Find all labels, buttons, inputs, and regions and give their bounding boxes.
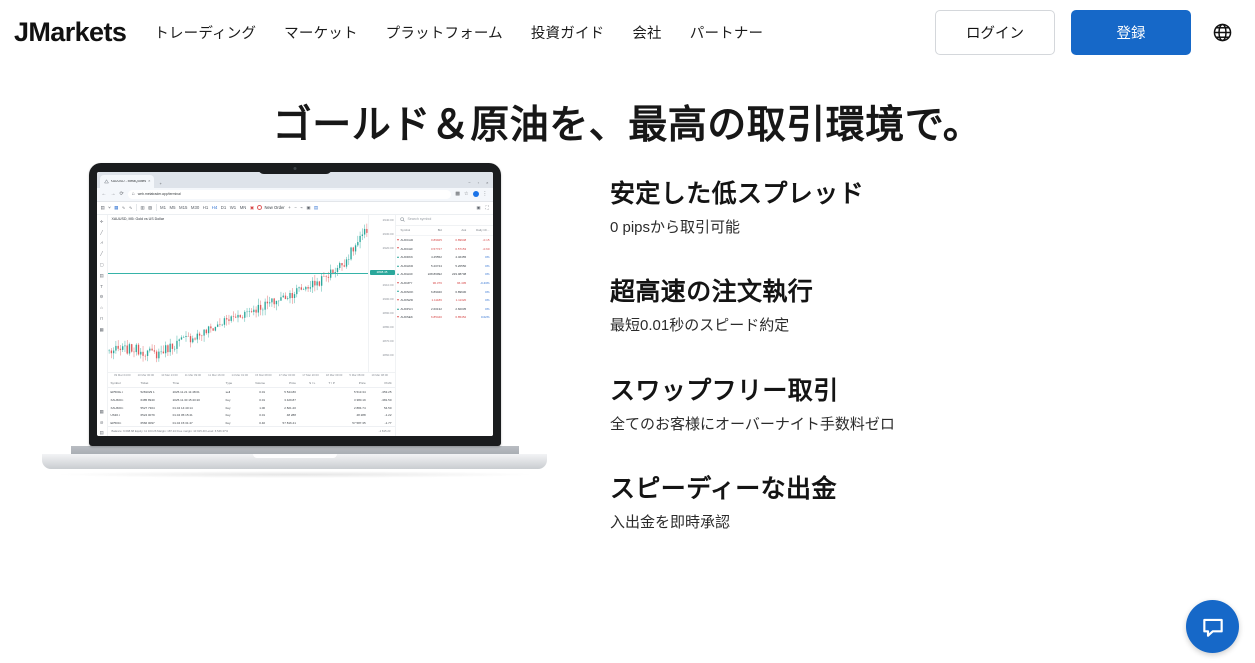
watch-ask: 5.20550 bbox=[445, 262, 469, 271]
account-status-left: Balance: 9 098.68 Equity: 11 163.26 Marg… bbox=[112, 429, 229, 433]
bookmark-icon[interactable]: ☆ bbox=[464, 192, 468, 197]
list-item[interactable]: AUDNOK6.890406.896300% bbox=[396, 287, 493, 296]
feature-title: 超高速の注文執行 bbox=[610, 277, 1255, 307]
new-order-icon bbox=[257, 205, 262, 210]
trades-table: Symbol Ticket Time Type Volume Price S /… bbox=[108, 379, 395, 426]
lock-icon[interactable]: ⌂ bbox=[100, 306, 103, 310]
watch-change: 0% bbox=[469, 253, 492, 262]
table-cell: -1.22 bbox=[369, 412, 395, 420]
timeframe-h4[interactable]: H4 bbox=[212, 206, 218, 210]
watch-change: -0.15 bbox=[469, 235, 492, 244]
watch-symbol: AUDNZD bbox=[396, 296, 421, 305]
table-cell: 3 380.19 bbox=[338, 396, 369, 404]
list-item[interactable]: AUDDKK4.455524.464550% bbox=[396, 253, 493, 262]
watch-change: 0% bbox=[469, 305, 492, 314]
feature-desc: 入出金を即時承認 bbox=[610, 513, 1255, 533]
window-minimize-icon[interactable]: − bbox=[468, 181, 470, 185]
price-level-line bbox=[108, 273, 368, 274]
browser-tab-title: XAUUSD - MetaQuotes bbox=[111, 180, 147, 183]
watch-bid: 0.57727 bbox=[421, 244, 445, 253]
templates-icon[interactable]: ▤ bbox=[314, 206, 318, 210]
watch-change: 0% bbox=[469, 287, 492, 296]
feature-spread: 安定した低スプレッド 0 pipsから取引可能 bbox=[610, 179, 1255, 238]
watch-bid: 4.45552 bbox=[421, 253, 445, 262]
extensions-icon[interactable]: ▩ bbox=[455, 192, 460, 197]
price-tick: 2890.00 bbox=[383, 312, 394, 315]
current-price-badge: 2898.45 bbox=[370, 270, 395, 275]
browser-tab[interactable]: XAUUSD - MetaQuotes × bbox=[100, 175, 155, 188]
list-item[interactable]: AUDSEK6.854406.854520.02% bbox=[396, 313, 493, 322]
globe-icon bbox=[1212, 22, 1233, 43]
toolbar-menu-icon[interactable]: ▤ bbox=[101, 206, 105, 210]
table-cell bbox=[299, 388, 318, 396]
site-header: JMarkets トレーディング マーケット プラットフォーム 投資ガイド 会社… bbox=[0, 0, 1255, 64]
time-tick: 17 Mar 20:00 bbox=[302, 374, 318, 377]
drawing-tools-rail: ✛ ╱ ⩘ ╱ ▢ ▤ T ⚙ ⌂ ⊓ ▩ ▦ bbox=[97, 215, 108, 436]
timeframe-m1[interactable]: M1 bbox=[160, 206, 166, 210]
header-actions: ログイン 登録 bbox=[935, 10, 1237, 55]
time-tick: 15 Mar 08:00 bbox=[255, 374, 271, 377]
layout-icon[interactable]: ▣ bbox=[476, 206, 480, 210]
trades-header-row: Symbol Ticket Time Type Volume Price S /… bbox=[108, 379, 395, 388]
symbol-search-field[interactable]: Search symbol bbox=[396, 215, 493, 226]
table-cell: 5 544.80 bbox=[268, 388, 299, 396]
list-item[interactable]: AUDPLN2.601322.600350% bbox=[396, 305, 493, 314]
toolbar-area-icon[interactable]: ∿ bbox=[129, 206, 133, 210]
toolbar-right-group: ▣ ⛶ bbox=[476, 206, 488, 210]
ray-icon[interactable]: ╱ bbox=[100, 252, 103, 256]
price-axis: 2940.00 2930.00 2898.45 2920.00 2910.00 … bbox=[368, 215, 395, 372]
tab-close-icon[interactable]: × bbox=[148, 179, 150, 183]
col-ticket[interactable]: Ticket bbox=[138, 379, 170, 388]
table-cell: 2025.11.21 11:48:01 bbox=[170, 388, 223, 396]
zoom-in-icon[interactable]: + bbox=[288, 206, 291, 210]
lock-icon: ⌂ bbox=[132, 192, 135, 197]
watch-symbol: AUDHUF bbox=[396, 270, 421, 279]
nav-item-guide[interactable]: 投資ガイド bbox=[531, 22, 605, 43]
watch-header-row: Symbol Bid Ask Daily Ch... bbox=[396, 226, 493, 236]
browser-urlbar: ← → ⟳ ⌂ web.metatrader.app/terminal ▩ ☆ … bbox=[97, 188, 493, 202]
profile-avatar[interactable] bbox=[473, 191, 479, 197]
col-type[interactable]: Type bbox=[223, 379, 243, 388]
col-current-price[interactable]: Price bbox=[338, 379, 369, 388]
watch-ask: 0.57153 bbox=[445, 244, 469, 253]
table-cell bbox=[299, 412, 318, 420]
feature-desc: 最短0.01秒のスピード約定 bbox=[610, 316, 1255, 336]
time-tick: 18 Mar 09:00 bbox=[326, 374, 342, 377]
table-cell bbox=[318, 412, 338, 420]
address-bar-url: web.metatrader.app/terminal bbox=[138, 193, 181, 196]
chart-and-trades: XAUUSD, M5: Gold vs US Dollar 2940.00 29… bbox=[108, 215, 395, 436]
search-icon bbox=[400, 217, 405, 222]
watch-symbol: AUDHKD bbox=[396, 262, 421, 271]
live-chat-button[interactable] bbox=[1186, 600, 1239, 653]
new-tab-icon[interactable]: + bbox=[159, 182, 161, 186]
laptop-mockup: XAUUSD - MetaQuotes × + − ▫ × ← → bbox=[42, 163, 547, 478]
timeframe-w1[interactable]: W1 bbox=[230, 206, 236, 210]
settings-icon[interactable]: ⚙ bbox=[100, 295, 104, 299]
watch-bid: 96.376 bbox=[421, 279, 445, 288]
table-cell: 5281029 1 bbox=[138, 388, 170, 396]
new-order-label: New Order bbox=[264, 205, 284, 210]
open-trades-table: Symbol Ticket Time Type Volume Price S /… bbox=[108, 379, 395, 426]
watch-bid: 6.85440 bbox=[421, 313, 445, 322]
price-tick: 2900.00 bbox=[383, 298, 394, 301]
col-volume[interactable]: Volume bbox=[243, 379, 269, 388]
time-tick: 10 Mar 00:00 bbox=[138, 374, 154, 377]
new-order-button[interactable]: New Order bbox=[257, 205, 284, 210]
list-item[interactable]: AUDNZD1.111861.113200% bbox=[396, 296, 493, 305]
table-cell bbox=[299, 396, 318, 404]
watch-change: -0.60 bbox=[469, 244, 492, 253]
page-title: ゴールド＆原油を、最高の取引環境で。 bbox=[0, 102, 1255, 151]
watch-bid: 1.11186 bbox=[421, 296, 445, 305]
watch-bid: 0.89925 bbox=[421, 235, 445, 244]
watch-symbol: AUDSEK bbox=[396, 313, 421, 322]
feature-title: 安定した低スプレッド bbox=[610, 179, 1255, 209]
table-cell: 2025.11.30 15:40:20 bbox=[170, 396, 223, 404]
table-row[interactable]: XAU600.t6485 89402025.11.30 15:40:20buy0… bbox=[108, 396, 395, 404]
nav-item-platform[interactable]: プラットフォーム bbox=[386, 22, 503, 43]
address-bar[interactable]: ⌂ web.metatrader.app/terminal bbox=[128, 190, 452, 199]
table-cell: 0.01 bbox=[243, 412, 269, 420]
watch-change: 0% bbox=[469, 262, 492, 271]
table-cell bbox=[318, 396, 338, 404]
laptop-hinge bbox=[71, 446, 519, 454]
watch-symbol: AUDCAD bbox=[396, 235, 421, 244]
watch-ask: 1.11320 bbox=[445, 296, 469, 305]
table-cell: 6524 0079 bbox=[138, 412, 170, 420]
time-axis: 09 Mar 04:00 10 Mar 00:00 10 Mar 13:00 1… bbox=[108, 372, 395, 379]
watch-ask: 6.85452 bbox=[445, 313, 469, 322]
price-tick: 2940.00 bbox=[383, 219, 394, 222]
toolbar-candles-icon[interactable]: ▨ bbox=[148, 206, 152, 210]
list-item[interactable]: AUDHUF228.86992229.087080% bbox=[396, 270, 493, 279]
table-cell: buy bbox=[223, 412, 243, 420]
feature-list: 安定した低スプレッド 0 pipsから取引可能 超高速の注文執行 最短0.01秒… bbox=[600, 161, 1255, 533]
watch-symbol: AUDPLN bbox=[396, 305, 421, 314]
table-row[interactable]: XAU600.t5527 730401.04 14:40:14buy1.002 … bbox=[108, 404, 395, 412]
fibonacci-icon[interactable]: ⩘ bbox=[100, 241, 102, 245]
primary-nav: トレーディング マーケット プラットフォーム 投資ガイド 会社 パートナー bbox=[154, 22, 763, 43]
window-maximize-icon[interactable]: ▫ bbox=[478, 181, 479, 185]
col-tp[interactable]: T / P bbox=[318, 379, 338, 388]
list-item[interactable]: AUDCAD0.899250.89948-0.15 bbox=[396, 235, 493, 244]
table-cell bbox=[299, 404, 318, 412]
toolbar-line-icon[interactable]: ∿ bbox=[122, 206, 126, 210]
chart-symbol-label: XAUUSD, M5: Gold vs US Dollar bbox=[112, 218, 165, 222]
grid-icon[interactable]: ▩ bbox=[99, 328, 103, 332]
back-icon[interactable]: ← bbox=[102, 192, 107, 197]
watch-change: 0% bbox=[469, 296, 492, 305]
laptop-screen: XAUUSD - MetaQuotes × + − ▫ × ← → bbox=[97, 172, 493, 436]
table-row[interactable]: EP500s.t5281029 12025.11.21 11:48:01sell… bbox=[108, 388, 395, 396]
price-tick: 2880.00 bbox=[383, 326, 394, 329]
table-cell: buy bbox=[223, 396, 243, 404]
feature-desc: 0 pipsから取引可能 bbox=[610, 218, 1255, 238]
laptop-shadow bbox=[60, 471, 530, 478]
indicators-icon[interactable]: ⌁ bbox=[300, 206, 303, 210]
watch-symbol: AUDNOK bbox=[396, 287, 421, 296]
time-tick: 5 Mar 08:00 bbox=[349, 374, 364, 377]
time-tick: 14 Mar 01:00 bbox=[232, 374, 248, 377]
col-profit[interactable]: Profit bbox=[369, 379, 395, 388]
table-cell: 2 884.74 bbox=[338, 404, 369, 412]
list-item[interactable]: AUDCHF0.577270.57153-0.60 bbox=[396, 244, 493, 253]
main-content: XAUUSD - MetaQuotes × + − ▫ × ← → bbox=[0, 161, 1255, 591]
timeframe-h1[interactable]: H1 bbox=[203, 206, 209, 210]
account-status-right: -1 815.23 bbox=[379, 429, 391, 433]
price-tick: 2910.00 bbox=[383, 284, 394, 287]
metatrader-favicon bbox=[104, 179, 109, 184]
laptop-notch bbox=[258, 163, 332, 174]
laptop-lid: XAUUSD - MetaQuotes × + − ▫ × ← → bbox=[89, 163, 501, 446]
nav-item-markets[interactable]: マーケット bbox=[284, 22, 358, 43]
timeframe-m15[interactable]: M15 bbox=[179, 206, 187, 210]
watch-bid: 5.20744 bbox=[421, 262, 445, 271]
table-cell bbox=[318, 404, 338, 412]
rectangle-icon[interactable]: ▢ bbox=[99, 263, 103, 267]
table-cell: 0.01 bbox=[243, 396, 269, 404]
table-cell: XAU600.t bbox=[108, 404, 138, 412]
text-icon[interactable]: T bbox=[100, 285, 103, 289]
market-watch-body: AUDCAD0.899250.89948-0.15AUDCHF0.577270.… bbox=[396, 235, 493, 321]
toolbar-symbols-icon[interactable]: ⑂ bbox=[108, 206, 111, 210]
nav-item-company[interactable]: 会社 bbox=[632, 22, 661, 43]
watch-change: 0.02% bbox=[469, 313, 492, 322]
price-tick: 2920.00 bbox=[383, 247, 394, 250]
watch-symbol: AUDJPY bbox=[396, 279, 421, 288]
window-close-icon[interactable]: × bbox=[486, 181, 488, 185]
reload-icon[interactable]: ⟳ bbox=[120, 192, 124, 197]
price-tick: 2870.00 bbox=[383, 340, 394, 343]
table-cell: US30.t bbox=[108, 412, 138, 420]
time-tick: 17 Mar 00:00 bbox=[279, 374, 295, 377]
browser-menu-icon[interactable]: ⋮ bbox=[483, 192, 488, 197]
table-cell: 5 513.34 bbox=[338, 388, 369, 396]
nav-item-trading[interactable]: トレーディング bbox=[154, 22, 256, 43]
toolbar-alert-icon[interactable]: ▣ bbox=[250, 206, 254, 210]
chart-icon[interactable]: ▦ bbox=[99, 410, 103, 414]
time-tick: 10 Mar 13:00 bbox=[161, 374, 177, 377]
watch-col-ask[interactable]: Ask bbox=[445, 226, 469, 236]
terminal-toolbar: ▤ ⑂ ▦ ∿ ∿ ▥ ▨ M1 M5 M15 M30 H1 bbox=[97, 202, 493, 215]
timeframe-m5[interactable]: M5 bbox=[170, 206, 176, 210]
watch-col-symbol[interactable]: Symbol bbox=[396, 226, 421, 236]
watch-symbol: AUDDKK bbox=[396, 253, 421, 262]
col-price[interactable]: Price bbox=[268, 379, 299, 388]
time-tick: 09 Mar 04:00 bbox=[114, 374, 130, 377]
terminal-body: ✛ ╱ ⩘ ╱ ▢ ▤ T ⚙ ⌂ ⊓ ▩ ▦ bbox=[97, 215, 493, 436]
zoom-out-icon[interactable]: − bbox=[294, 206, 297, 210]
forward-icon[interactable]: → bbox=[111, 192, 116, 197]
trendline-icon[interactable]: ╱ bbox=[100, 231, 103, 235]
col-symbol[interactable]: Symbol bbox=[108, 379, 138, 388]
calendar-icon[interactable]: ▤ bbox=[99, 431, 103, 435]
toolbar-charttype-icon[interactable]: ▦ bbox=[114, 206, 118, 210]
watch-change: 0% bbox=[469, 270, 492, 279]
table-cell: 5527 7304 bbox=[138, 404, 170, 412]
symbol-search-placeholder: Search symbol bbox=[408, 218, 432, 222]
crosshair-icon[interactable]: ✛ bbox=[100, 220, 104, 224]
watch-col-bid[interactable]: Bid bbox=[421, 226, 445, 236]
price-chart[interactable]: XAUUSD, M5: Gold vs US Dollar bbox=[108, 215, 368, 372]
table-cell: 2 821.20 bbox=[268, 404, 299, 412]
watch-ask: 229.08708 bbox=[445, 270, 469, 279]
toolbar-bars-icon[interactable]: ▥ bbox=[140, 206, 144, 210]
col-time[interactable]: Time bbox=[170, 379, 223, 388]
chart-area: XAUUSD, M5: Gold vs US Dollar 2940.00 29… bbox=[108, 215, 395, 372]
table-row[interactable]: US30.t6524 007901.04 05:15:41buy0.0148 2… bbox=[108, 412, 395, 420]
brand-logo[interactable]: JMarkets bbox=[14, 17, 126, 48]
browser-tabbar: XAUUSD - MetaQuotes × + − ▫ × bbox=[97, 172, 493, 188]
feature-title: スピーディーな出金 bbox=[610, 474, 1255, 504]
table-cell: 0.01 bbox=[243, 388, 269, 396]
table-cell: XAU600.t bbox=[108, 396, 138, 404]
table-cell: 1.00 bbox=[243, 404, 269, 412]
list-item[interactable]: AUDJPY96.37696.405-0.43% bbox=[396, 279, 493, 288]
table-cell: 54.50 bbox=[369, 404, 395, 412]
market-watch-panel: Search symbol Symbol Bid Ask Daily Ch... bbox=[395, 215, 493, 436]
watch-ask: 6.89630 bbox=[445, 287, 469, 296]
feature-desc: 全てのお客様にオーバーナイト手数料ゼロ bbox=[610, 415, 1255, 435]
channel-icon[interactable]: ▤ bbox=[99, 274, 103, 278]
table-cell: sell bbox=[223, 388, 243, 396]
watch-ask: 0.89948 bbox=[445, 235, 469, 244]
table-cell: -353.25 bbox=[369, 388, 395, 396]
watch-symbol: AUDCHF bbox=[396, 244, 421, 253]
watch-ask: 2.60035 bbox=[445, 305, 469, 314]
watch-ask: 96.405 bbox=[445, 279, 469, 288]
watch-col-change[interactable]: Daily Ch... bbox=[469, 226, 492, 236]
list-item[interactable]: AUDHKD5.207445.205500% bbox=[396, 262, 493, 271]
table-cell bbox=[318, 388, 338, 396]
time-tick: 11 Mar 09:00 bbox=[185, 374, 201, 377]
feature-swapfree: スワップフリー取引 全てのお客様にオーバーナイト手数料ゼロ bbox=[610, 376, 1255, 435]
language-switcher-button[interactable] bbox=[1207, 17, 1237, 47]
watch-bid: 2.60132 bbox=[421, 305, 445, 314]
laptop-base bbox=[42, 454, 547, 469]
toolbar-divider bbox=[156, 204, 157, 211]
table-cell: -381.50 bbox=[369, 396, 395, 404]
watch-bid: 228.86992 bbox=[421, 270, 445, 279]
trades-body: EP500s.t5281029 12025.11.21 11:48:01sell… bbox=[108, 388, 395, 426]
fullscreen-icon[interactable]: ⛶ bbox=[485, 206, 488, 210]
table-cell: buy bbox=[223, 404, 243, 412]
block-icon[interactable]: ⊘ bbox=[100, 421, 104, 425]
objects-icon[interactable]: ▣ bbox=[306, 206, 310, 210]
table-cell: 48 288 bbox=[268, 412, 299, 420]
table-cell: 01.04 05:15:41 bbox=[170, 412, 223, 420]
register-button[interactable]: 登録 bbox=[1071, 10, 1191, 55]
candlestick-series bbox=[108, 215, 368, 367]
browser-toolbar-icons: ▩ ☆ ⋮ bbox=[455, 191, 487, 197]
feature-execution: 超高速の注文執行 最短0.01秒のスピード約定 bbox=[610, 277, 1255, 336]
table-cell: 6485 8940 bbox=[138, 396, 170, 404]
toolbar-divider bbox=[136, 204, 137, 211]
watch-bid: 6.89040 bbox=[421, 287, 445, 296]
time-tick: 11 Mar 16:00 bbox=[208, 374, 224, 377]
timeframe-d1[interactable]: D1 bbox=[221, 206, 227, 210]
feature-title: スワップフリー取引 bbox=[610, 376, 1255, 406]
table-cell: EP500s.t bbox=[108, 388, 138, 396]
account-status-bar: Balance: 9 098.68 Equity: 11 163.26 Marg… bbox=[108, 426, 395, 436]
time-tick: 19 Mar 08:00 bbox=[371, 374, 387, 377]
col-sl[interactable]: S / L bbox=[299, 379, 318, 388]
watch-ask: 4.46455 bbox=[445, 253, 469, 262]
nav-item-partners[interactable]: パートナー bbox=[690, 22, 764, 43]
window-controls: − ▫ × bbox=[468, 181, 488, 185]
table-cell: 3 429.87 bbox=[268, 396, 299, 404]
market-watch-table: Symbol Bid Ask Daily Ch... AUDCAD0.89925… bbox=[396, 226, 493, 322]
timeframe-m30[interactable]: M30 bbox=[191, 206, 199, 210]
laptop-showcase: XAUUSD - MetaQuotes × + − ▫ × ← → bbox=[0, 161, 600, 591]
magnet-icon[interactable]: ⊓ bbox=[100, 317, 103, 321]
price-tick: 2860.00 bbox=[383, 354, 394, 357]
chat-bubble-icon bbox=[1200, 614, 1226, 640]
price-tick: 2930.00 bbox=[383, 233, 394, 236]
table-cell: 01.04 14:40:14 bbox=[170, 404, 223, 412]
timeframe-mn[interactable]: MN bbox=[240, 206, 247, 210]
feature-withdrawal: スピーディーな出金 入出金を即時承認 bbox=[610, 474, 1255, 533]
login-button[interactable]: ログイン bbox=[935, 10, 1055, 55]
watch-change: -0.43% bbox=[469, 279, 492, 288]
table-cell: 48 288 bbox=[338, 412, 369, 420]
